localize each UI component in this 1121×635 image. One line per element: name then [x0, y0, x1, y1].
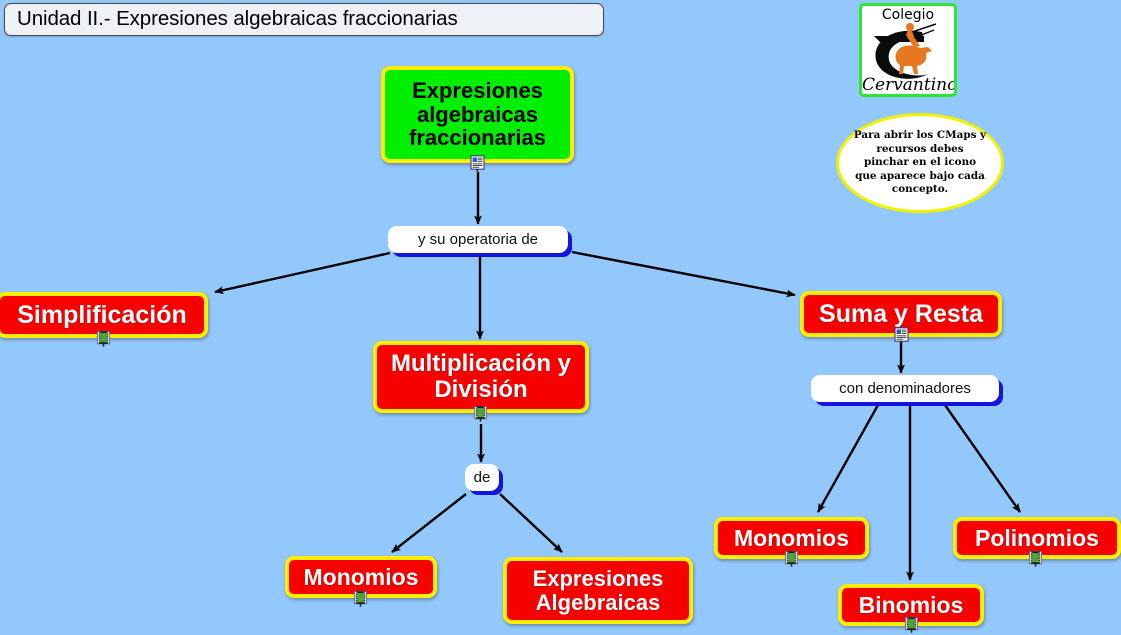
node-label: Polinomios: [966, 526, 1108, 551]
node-label: Binomios: [850, 593, 973, 618]
node-label: Monomios: [725, 526, 858, 551]
concept-map-canvas: Unidad II.- Expresiones algebraicas frac…: [0, 0, 1121, 635]
node-label: Simplificación: [8, 302, 195, 329]
logo-bottom-text: Cervantino: [862, 75, 954, 95]
school-logo: Colegio Cervantino: [859, 3, 957, 97]
connector-denominadores-to-monomios-right: [818, 405, 878, 512]
link-phrase-operatoria[interactable]: y su operatoria de: [388, 226, 568, 253]
node-label: Expresiones Algebraicas: [507, 567, 689, 614]
node-label: Monomios: [295, 565, 428, 590]
node-multiplicacion-y-division[interactable]: Multiplicación y División: [373, 341, 589, 413]
film-resource-icon[interactable]: [1027, 550, 1044, 567]
link-phrase-label: con denominadores: [839, 380, 971, 397]
document-resource-icon[interactable]: [893, 327, 910, 344]
node-label: Multiplicación y División: [377, 351, 585, 402]
connector-denominadores-to-polinomios: [945, 405, 1020, 512]
instructions-note-text: Para abrir los CMaps y recursos debes pi…: [839, 129, 1001, 197]
film-resource-icon[interactable]: [783, 550, 800, 567]
connector-operatoria-to-simplificacion: [215, 253, 390, 292]
connector-operatoria-to-suma-resta: [572, 252, 795, 295]
film-resource-icon[interactable]: [352, 590, 369, 607]
instructions-note: Para abrir los CMaps y recursos debes pi…: [836, 113, 1004, 213]
film-resource-icon[interactable]: [472, 405, 489, 422]
document-resource-icon[interactable]: [469, 155, 486, 172]
connector-de-to-monomios-left: [392, 494, 466, 552]
connector-de-to-expresiones-algebraicas: [500, 494, 562, 552]
film-resource-icon[interactable]: [95, 330, 112, 347]
unit-title-banner: Unidad II.- Expresiones algebraicas frac…: [4, 3, 604, 36]
link-phrase-de[interactable]: de: [465, 464, 499, 491]
node-expresiones-algebraicas-fraccionarias[interactable]: Expresiones algebraicas fraccionarias: [381, 66, 574, 163]
node-expresiones-algebraicas[interactable]: Expresiones Algebraicas: [503, 557, 693, 624]
link-phrase-label: y su operatoria de: [418, 231, 538, 248]
link-phrase-denominadores[interactable]: con denominadores: [811, 375, 999, 402]
film-resource-icon[interactable]: [903, 616, 920, 633]
node-label: Suma y Resta: [810, 301, 992, 328]
link-phrase-label: de: [474, 469, 491, 486]
logo-top-text: Colegio: [862, 7, 954, 23]
node-label: Expresiones algebraicas fraccionarias: [385, 79, 570, 150]
